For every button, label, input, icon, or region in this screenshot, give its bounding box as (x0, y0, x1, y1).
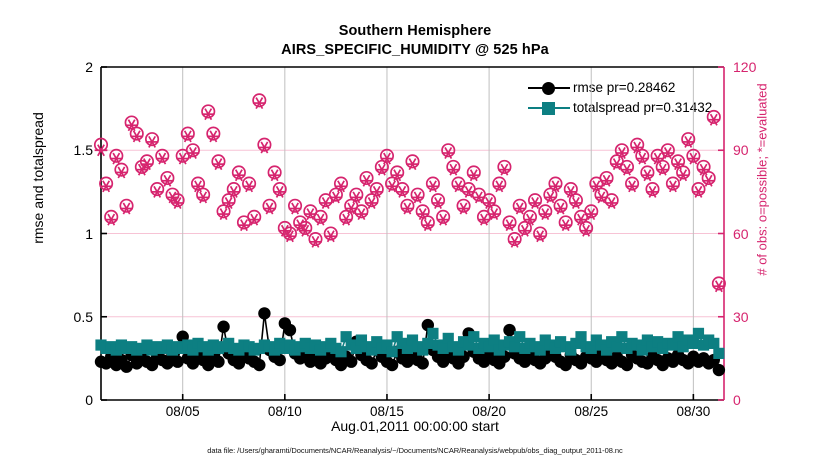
rmse-marker (713, 364, 725, 376)
rmse-marker (417, 357, 429, 369)
totalspread-marker (335, 346, 346, 357)
y-tick-label-right: 120 (733, 59, 793, 75)
rmse-marker (253, 359, 265, 371)
obs-markers-group (95, 94, 726, 292)
totalspread-marker (713, 348, 724, 359)
rmse-marker (258, 307, 270, 319)
totalspread-marker (422, 338, 433, 349)
y-tick-label-left: 1 (33, 226, 93, 242)
y-tick-label-left: 1.5 (33, 142, 93, 158)
rmse-marker (274, 354, 286, 366)
rmse-marker (212, 356, 224, 368)
totalspread-marker (611, 341, 622, 352)
totalspread-marker (427, 328, 438, 339)
y-tick-label-right: 30 (733, 309, 793, 325)
x-tick-label: 08/30 (658, 404, 728, 419)
totalspread-marker (509, 341, 520, 352)
y-tick-label-right: 90 (733, 142, 793, 158)
y-tick-label-left: 0 (33, 392, 93, 408)
totalspread-marker (386, 346, 397, 357)
totalspread-marker (438, 343, 449, 354)
totalspread-marker (535, 344, 546, 355)
rmse-marker (345, 356, 357, 368)
totalspread-marker (637, 344, 648, 355)
totalspread-marker (468, 331, 479, 342)
x-tick-label: 08/20 (454, 404, 524, 419)
totalspread-marker (575, 331, 586, 342)
totalspread-marker (693, 328, 704, 339)
y-tick-label-left: 2 (33, 59, 93, 75)
x-tick-label: 08/25 (556, 404, 626, 419)
x-tick-label: 08/10 (250, 404, 320, 419)
rmse-marker (386, 359, 398, 371)
totalspread-marker (708, 338, 719, 349)
totalspread-marker (672, 331, 683, 342)
totalspread-marker (514, 331, 525, 342)
y-tick-label-right: 60 (733, 226, 793, 242)
rmse-marker (503, 324, 515, 336)
x-tick-label: 08/15 (352, 404, 422, 419)
y-tick-label-right: 0 (733, 392, 793, 408)
rmse-marker (284, 324, 296, 336)
x-tick-label: 08/05 (148, 404, 218, 419)
totalspread-marker (616, 331, 627, 342)
totalspread-marker (688, 338, 699, 349)
totalspread-marker (489, 334, 500, 345)
rmse-marker (365, 357, 377, 369)
y-tick-label-left: 0.5 (33, 309, 93, 325)
figure-canvas: Southern Hemisphere AIRS_SPECIFIC_HUMIDI… (0, 0, 830, 470)
rmse-marker (217, 321, 229, 333)
chart-svg (0, 0, 830, 470)
